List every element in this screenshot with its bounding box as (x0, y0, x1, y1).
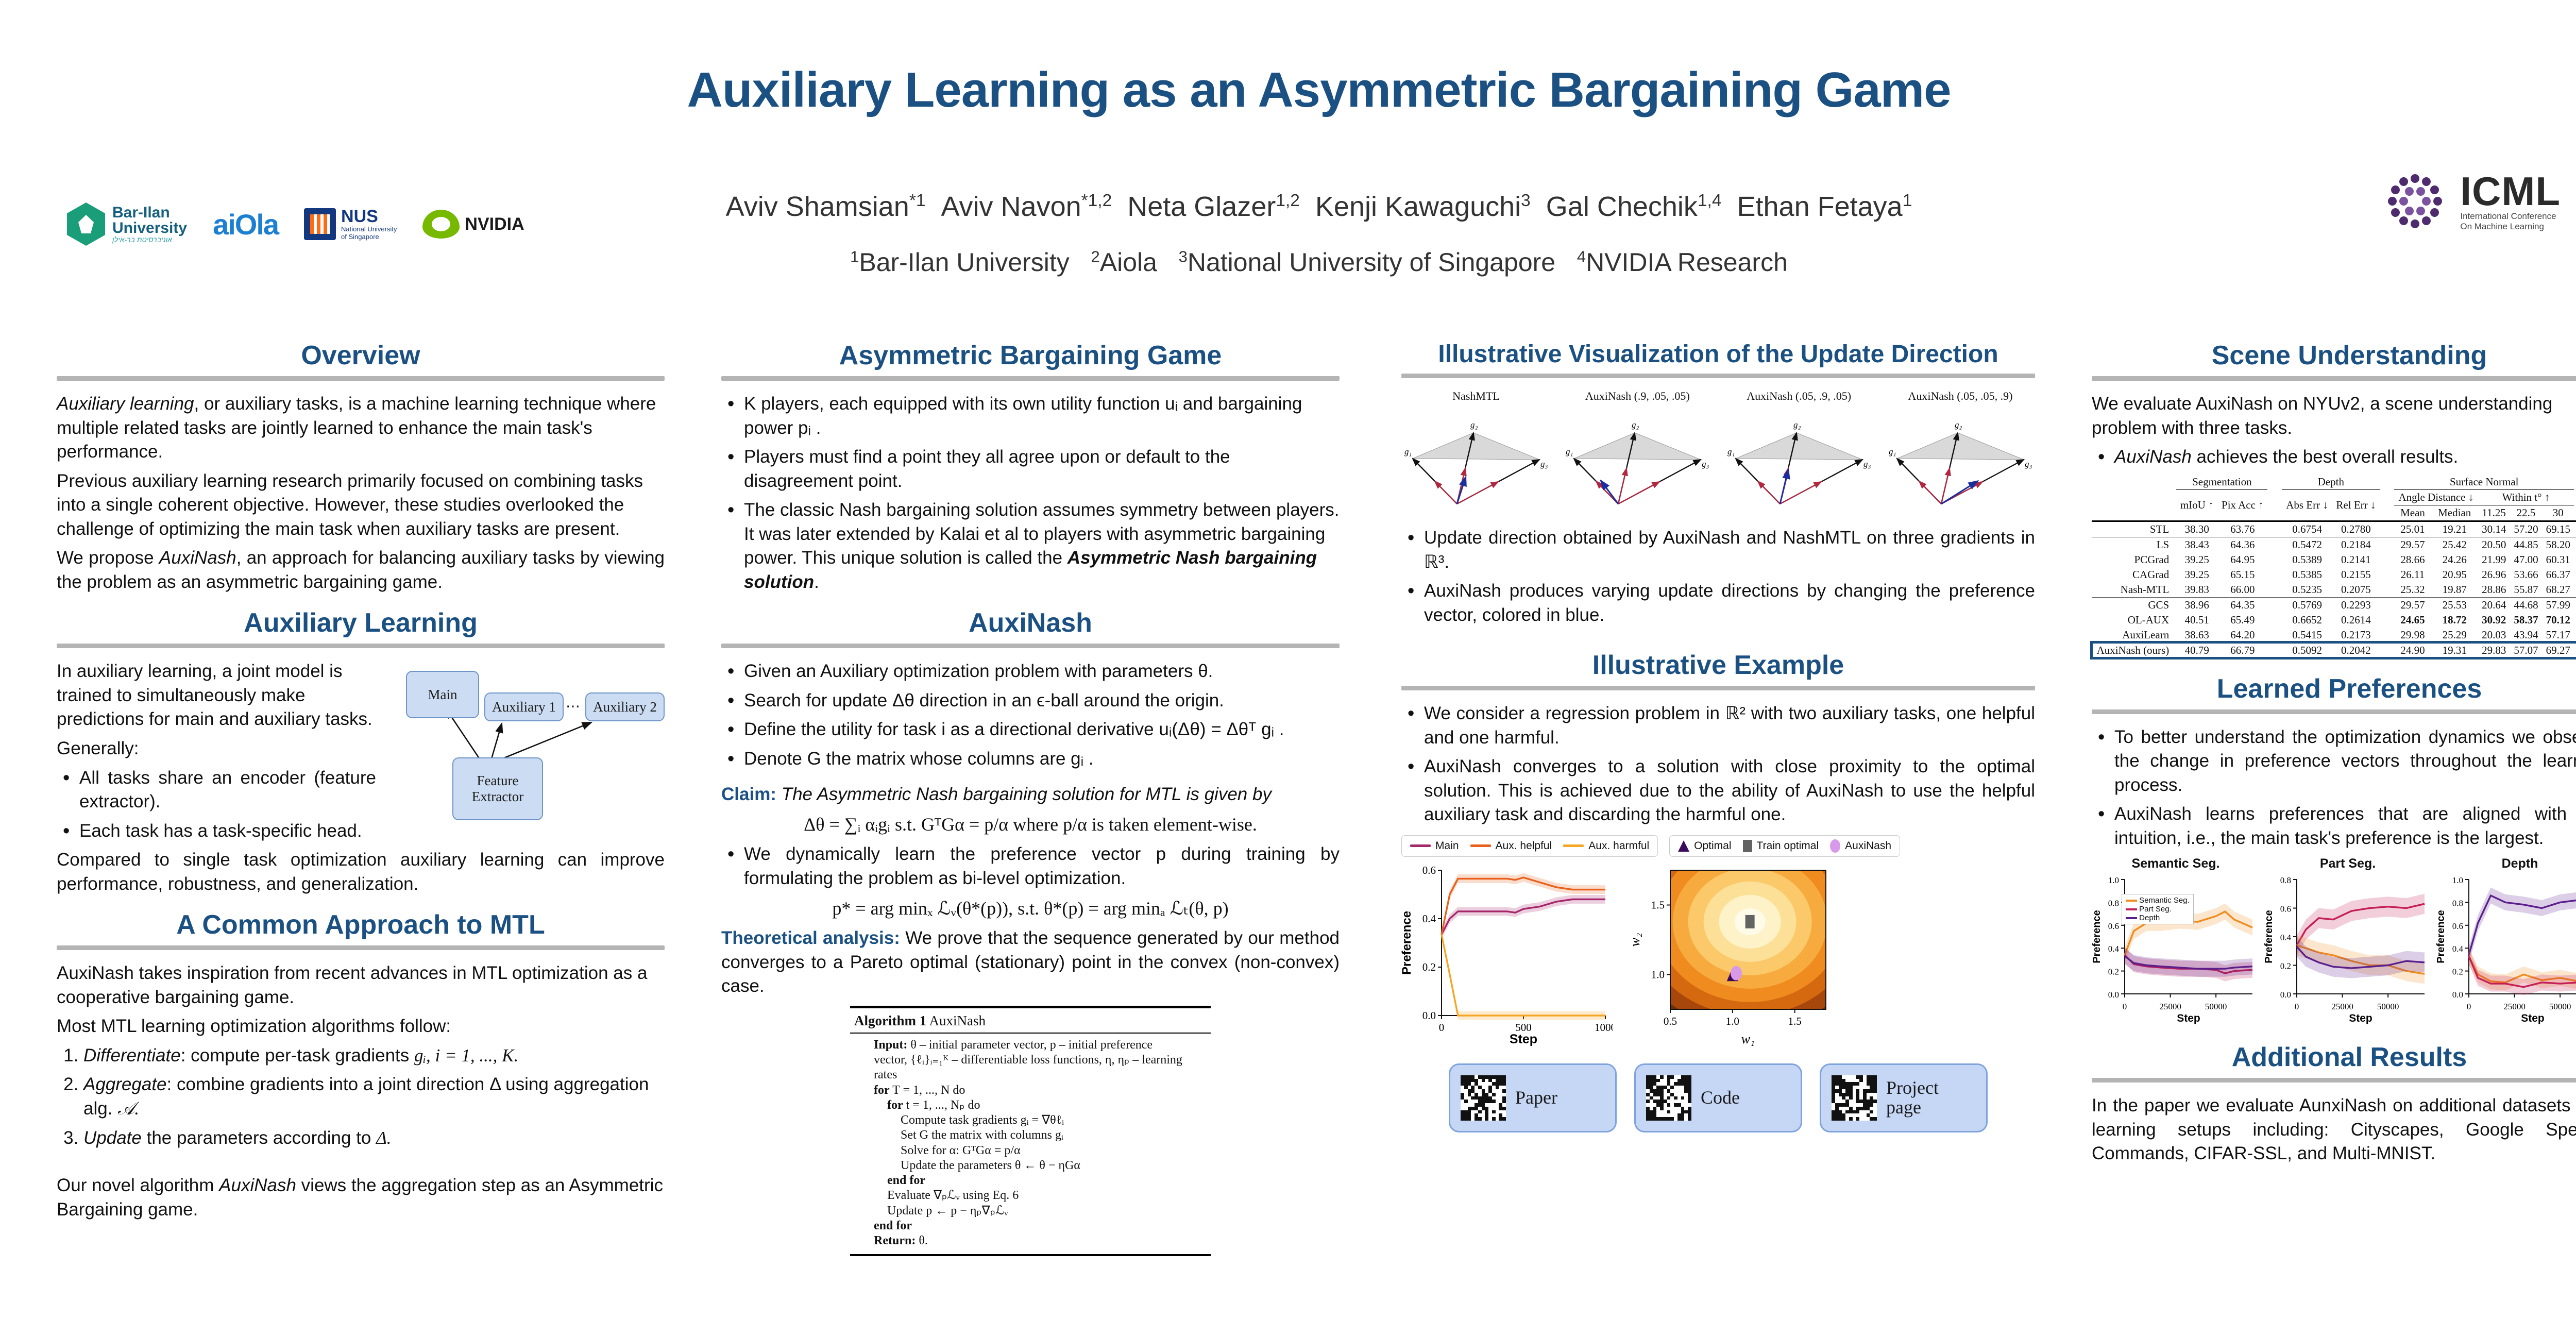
divider (2092, 1078, 2576, 1083)
table-cell: 0.2614 (2332, 613, 2380, 628)
svg-text:g₃: g₃ (1702, 459, 1709, 469)
algorithm-line: Update p ← p − ηₚ∇ₚℒᵥ (874, 1204, 1206, 1219)
table-cell: 0.2293 (2332, 597, 2380, 613)
list-item: Each task has a task-specific head. (79, 819, 376, 843)
scene-method-name: AuxiNash (2114, 447, 2192, 467)
table-cell: 64.35 (2217, 597, 2267, 613)
table-cell: 29.57 (2394, 537, 2431, 552)
svg-text:0.4: 0.4 (1422, 912, 1436, 925)
svg-text:1.0: 1.0 (1726, 1015, 1739, 1027)
group-header: Depth (2282, 475, 2380, 490)
list-item: To better understand the optimization dy… (2114, 725, 2576, 798)
table-cell: 57.20 (2510, 521, 2542, 537)
table-cell: 25.32 (2394, 582, 2431, 598)
table-cell: 38.30 (2176, 521, 2217, 537)
algorithm-line: Evaluate ∇ₚℒᵥ using Eq. 6 (874, 1188, 1206, 1203)
table-cell: 5.66 (2574, 552, 2576, 567)
scene-heading: Scene Understanding (2092, 340, 2576, 371)
page-title: Auxiliary Learning as an Asymmetric Barg… (0, 62, 2576, 119)
table-cell: 29.98 (2394, 628, 2431, 643)
table-cell: 64.95 (2217, 552, 2267, 567)
svg-text:g₂: g₂ (1793, 420, 1801, 430)
overview-p3-method: AuxiNash (159, 548, 236, 568)
table-cell: 55.87 (2510, 582, 2542, 598)
svg-text:Step: Step (2177, 1012, 2200, 1024)
table-cell: 0.6652 (2282, 613, 2332, 628)
table-cell: 38.43 (2176, 537, 2217, 552)
table-cell: 0.5389 (2282, 552, 2332, 567)
svg-text:w₂: w₂ (1628, 933, 1642, 946)
svg-text:0.0: 0.0 (2280, 990, 2291, 1000)
author: Gal Chechik1,4 (1546, 191, 1722, 222)
table-cell: 0.2173 (2332, 628, 2380, 643)
column-header: Median (2431, 505, 2478, 521)
table-cell: 28.66 (2394, 552, 2431, 567)
code-link-button[interactable]: Code (1634, 1063, 1802, 1132)
results-table: SegmentationDepthSurface NormalmIoU ↑Pix… (2092, 475, 2576, 658)
overview-paragraph-1: Auxiliary learning, or auxiliary tasks, … (57, 392, 665, 464)
additional-paragraph: In the paper we evaluate AunxiNash on ad… (2092, 1094, 2576, 1166)
step-1-text: : compute per-task gradients (181, 1045, 414, 1066)
divider (57, 945, 665, 950)
table-cell: 43.94 (2510, 628, 2542, 643)
list-item: Players must find a point they all agree… (744, 445, 1340, 493)
column-2: Asymmetric Bargaining Game K players, ea… (721, 340, 1340, 1270)
svg-text:Preference: Preference (2264, 910, 2275, 963)
overview-p3-a: We propose (57, 548, 159, 568)
table-cell: 58.20 (2542, 537, 2574, 552)
node-fe-line2: Extractor (472, 789, 523, 805)
svg-text:0: 0 (2467, 1002, 2471, 1011)
illus-example-heading: Illustrative Example (1401, 650, 2035, 681)
list-item: Aggregate: combine gradients into a join… (83, 1073, 665, 1121)
table-cell: −4.76 (2574, 582, 2576, 598)
table-cell: 8.69 (2574, 537, 2576, 552)
algorithm-line: Input: θ – initial parameter vector, p –… (874, 1038, 1206, 1053)
preference-chart-3: Depth 0.0 0.2 0.4 0.6 0.8 1.0 0 25000 50… (2436, 856, 2576, 1028)
paper-link-label: Paper (1515, 1088, 1557, 1108)
svg-text:1.5: 1.5 (1788, 1015, 1801, 1027)
column-header: Pix Acc ↑ (2217, 489, 2267, 521)
author-list: Aviv Shamsian*1 Aviv Navon*1,2 Neta Glaz… (0, 191, 2576, 223)
legend-marker (1743, 840, 1752, 852)
step-2-term: Aggregate (83, 1074, 167, 1094)
table-cell: 25.53 (2431, 597, 2478, 613)
table-cell: 0.5092 (2282, 642, 2332, 658)
scene-bullet-text: achieves the best overall results. (2192, 447, 2458, 467)
bargaining-bullet-list: K players, each equipped with its own ut… (721, 392, 1340, 594)
table-cell: −6.80 (2574, 642, 2576, 658)
table-subgroup-header-row: mIoU ↑Pix Acc ↑Abs Err ↓Rel Err ↓Angle D… (2092, 489, 2576, 505)
legend-entry: Part Seg. (2126, 905, 2190, 914)
algorithm-line: for T = 1, ..., N do (874, 1083, 1206, 1098)
table-cell: 65.49 (2217, 613, 2267, 628)
overview-paragraph-3: We propose AuxiNash, an approach for bal… (57, 546, 665, 594)
algorithm-line: for t = 1, ..., Nₚ do (874, 1098, 1206, 1113)
svg-text:25000: 25000 (2331, 1002, 2353, 1011)
tetra-figure: g₁ g₂ g₃ (1724, 403, 1874, 514)
table-cell: 69.27 (2542, 642, 2574, 658)
legend-entry: Aux. helpful (1470, 840, 1552, 852)
divider (1401, 374, 2035, 378)
divider (1401, 686, 2035, 690)
table-cell: 25.29 (2431, 628, 2478, 643)
affiliation: 1Bar-Ilan University (850, 248, 1070, 277)
legend-swatch (2126, 900, 2137, 902)
list-item: Define the utility for task i as a direc… (744, 718, 1340, 742)
svg-text:50000: 50000 (2205, 1002, 2227, 1011)
svg-text:g₁: g₁ (1889, 447, 1896, 456)
table-cell: 65.15 (2217, 567, 2267, 582)
node-feature-extractor: Feature Extractor (452, 757, 543, 820)
list-item: AuxiNash produces varying update directi… (1424, 579, 2035, 627)
table-cell: 44.68 (2510, 597, 2542, 613)
algorithm-title: Algorithm 1 AuxiNash (850, 1012, 1211, 1034)
algorithm-line: Compute task gradients gᵢ = ∇θℓᵢ (874, 1113, 1206, 1128)
table-cell: 60.31 (2542, 552, 2574, 567)
table-cell: 63.76 (2217, 521, 2267, 537)
auxiliary-learning-heading: Auxiliary Learning (57, 607, 665, 638)
table-cell: 30.14 (2478, 521, 2510, 537)
al-paragraph-1: In auxiliary learning, a joint model is … (57, 659, 376, 732)
legend-label: Train optimal (1757, 840, 1819, 852)
svg-text:0.4: 0.4 (2108, 944, 2120, 954)
legend-label: Optimal (1694, 840, 1731, 852)
table-cell: 0.5472 (2282, 537, 2332, 552)
column-header: Abs Err ↓ (2282, 489, 2332, 521)
table-cell: 57.17 (2542, 628, 2574, 643)
illus-vis-heading: Illustrative Visualization of the Update… (1401, 340, 2035, 368)
section-illustrative-visualization: Illustrative Visualization of the Update… (1401, 340, 2035, 627)
svg-text:g₂: g₂ (1632, 420, 1639, 430)
svg-text:50000: 50000 (2549, 1002, 2571, 1011)
table-row: Nash-MTL39.8366.000.52350.207525.3219.87… (2092, 582, 2576, 598)
column-1: Overview Auxiliary learning, or auxiliar… (57, 340, 665, 1235)
node-aux1-label: Auxiliary 1 (492, 699, 556, 715)
table-row: AuxiNash (ours)40.7966.790.50920.204224.… (2092, 642, 2576, 658)
svg-text:0.4: 0.4 (2280, 933, 2292, 942)
table-cell: 39.83 (2176, 582, 2217, 598)
claim-equation: Δθ = ∑ᵢ αᵢgᵢ s.t. GᵀGα = p/α where p/α i… (721, 814, 1340, 835)
chart-title: Part Seg. (2264, 856, 2432, 871)
row-label: LS (2092, 537, 2176, 552)
common-mtl-heading: A Common Approach to MTL (57, 909, 665, 940)
tetrahedron-panels: NashMTL g₁ g₂ g₃ AuxiNash (.9, .05, .05) (1401, 390, 2035, 517)
group-header: Segmentation (2176, 475, 2267, 490)
author: Kenji Kawaguchi3 (1315, 191, 1531, 222)
table-cell: 47.00 (2510, 552, 2542, 567)
section-auxiliary-learning: Auxiliary Learning In auxiliary learning… (57, 607, 665, 896)
step-1-term: Differentiate (83, 1045, 181, 1066)
results-table-wrap: SegmentationDepthSurface NormalmIoU ↑Pix… (2092, 475, 2576, 658)
tetra-panel-1: AuxiNash (.9, .05, .05) g₁ g₂ g₃ (1563, 390, 1712, 517)
list-item: We consider a regression problem in ℝ² w… (1424, 702, 2035, 750)
list-item: Update the parameters according to Δ. (83, 1126, 665, 1151)
auxinash-heading: AuxiNash (721, 607, 1340, 638)
claim-label: Claim: (721, 784, 776, 804)
table-row: AuxiLearn38.6364.200.54150.217329.9825.2… (2092, 628, 2576, 643)
overview-paragraph-2: Previous auxiliary learning research pri… (57, 469, 665, 542)
table-cell: 69.15 (2542, 521, 2574, 537)
svg-text:Step: Step (1510, 1032, 1537, 1046)
svg-text:0.6: 0.6 (1422, 864, 1436, 876)
mtl-paragraph-3: Our novel algorithm AuxiNash views the a… (57, 1174, 665, 1222)
table-cell: 64.20 (2217, 628, 2267, 643)
preference-step-chart: 0.0 0.2 0.4 0.6 0 500 1000StepPreference (1401, 862, 1613, 1050)
list-item: Denote G the matrix whose columns are gᵢ… (744, 747, 1340, 771)
list-item: AuxiNash converges to a solution with cl… (1424, 755, 2035, 827)
node-auxiliary-1: Auxiliary 1 (484, 692, 564, 721)
table-row: PCGrad39.2564.950.53890.214128.6624.2621… (2092, 552, 2576, 567)
list-item: All tasks share an encoder (feature extr… (79, 766, 376, 814)
table-cell: 0.5415 (2282, 628, 2332, 643)
svg-text:1.0: 1.0 (2452, 875, 2463, 885)
project-label-line1: Project (1886, 1077, 1939, 1098)
svg-text:g₂: g₂ (1470, 420, 1478, 430)
mtl-paragraph-1: AuxiNash takes inspiration from recent a… (57, 961, 665, 1009)
author: Ethan Fetaya1 (1737, 191, 1912, 222)
algorithm-body: Input: θ – initial parameter vector, p –… (850, 1038, 1211, 1249)
svg-text:Preference: Preference (2092, 910, 2103, 963)
table-cell: 9.15 (2574, 628, 2576, 643)
nus-line1: National University (341, 225, 397, 233)
section-auxinash: AuxiNash Given an Auxiliary optimization… (721, 607, 1340, 1256)
legend-marker (1678, 840, 1689, 852)
auxinash-dynamic-list: We dynamically learn the preference vect… (721, 842, 1340, 890)
overview-lead-term: Auxiliary learning (57, 394, 194, 414)
list-item: Given an Auxiliary optimization problem … (744, 659, 1340, 684)
table-cell: 20.50 (2478, 537, 2510, 552)
legend-label: Semantic Seg. (2139, 896, 2190, 905)
qr-code-icon (1461, 1075, 1506, 1121)
legend-entry: Depth (2126, 914, 2190, 922)
table-cell: 19.87 (2431, 582, 2478, 598)
chart-svg: 0.0 0.2 0.4 0.6 0.8 1.0 0 25000 50000Ste… (2436, 871, 2576, 1026)
learned-pref-heading: Learned Preferences (2092, 673, 2576, 704)
step-1-math: gᵢ, i = 1, ..., K. (414, 1045, 518, 1066)
author: Aviv Navon*1,2 (941, 191, 1112, 222)
row-label: AuxiNash (ours) (2092, 642, 2176, 658)
table-cell: 0.5235 (2282, 582, 2332, 598)
algorithm-line: Solve for α: GᵀGα = p/α (874, 1143, 1206, 1158)
tetra-panel-3: AuxiNash (.05, .05, .9) g₁ g₂ g₃ (1886, 390, 2035, 517)
affiliation: 3National University of Singapore (1179, 248, 1556, 277)
marker-train-optimal (1745, 915, 1755, 928)
author: Aviv Shamsian*1 (726, 191, 926, 222)
row-label: CAGrad (2092, 567, 2176, 582)
list-item: The classic Nash bargaining solution ass… (744, 498, 1340, 594)
table-cell: 18.72 (2431, 613, 2478, 628)
icml-line2: On Machine Learning (2460, 222, 2561, 232)
table-cell: 70.12 (2542, 613, 2574, 628)
table-cell: 53.66 (2510, 567, 2542, 582)
list-item: Search for update Δθ direction in an ϵ-b… (744, 689, 1340, 713)
list-item: We dynamically learn the preference vect… (744, 842, 1340, 890)
column-3: Illustrative Visualization of the Update… (1401, 340, 2035, 1132)
affiliation: 2Aiola (1091, 248, 1157, 277)
bargaining-b3-post: . (814, 572, 819, 592)
svg-text:Preference: Preference (1401, 911, 1414, 975)
mtl-p3-method: AuxiNash (219, 1175, 296, 1195)
loss-landscape-contour-chart: 1.0 1.5 0.5 1.0 1.5w₁w₂ (1626, 862, 1832, 1050)
divider (721, 644, 1340, 648)
al-bullet-list: All tasks share an encoder (feature extr… (57, 766, 376, 843)
algorithm-line: end for (874, 1219, 1206, 1233)
svg-text:0.6: 0.6 (2280, 904, 2291, 914)
svg-text:0.6: 0.6 (2452, 921, 2463, 931)
table-cell: 57.07 (2510, 642, 2542, 658)
algorithm-box: Algorithm 1 AuxiNash Input: θ – initial … (850, 1006, 1211, 1256)
column-header: Δ% ↓ (2574, 489, 2576, 521)
table-cell: 66.79 (2217, 642, 2267, 658)
chart-title: Semantic Seg. (2092, 856, 2260, 871)
svg-text:Step: Step (2521, 1012, 2545, 1024)
table-cell: 40.51 (2176, 613, 2217, 628)
preference-chart-2: Part Seg. 0.0 0.2 0.4 0.6 0.8 0 25000 50… (2264, 856, 2432, 1028)
svg-text:g₁: g₁ (1727, 447, 1735, 456)
algorithm-number: Algorithm 1 (854, 1013, 926, 1028)
table-cell: 0.2780 (2332, 521, 2380, 537)
svg-text:w₁: w₁ (1741, 1031, 1755, 1046)
svg-text:g₃: g₃ (2025, 459, 2032, 469)
table-row: LS38.4364.360.54720.218429.5725.4220.504… (2092, 537, 2576, 552)
legend-label: Aux. helpful (1496, 840, 1552, 852)
row-label: GCS (2092, 597, 2176, 613)
step-2-math: 𝒜. (117, 1098, 139, 1119)
algorithm-line: vector, {ℓᵢ}ᵢ₌₁ᴷ – differentiable loss f… (874, 1053, 1206, 1068)
svg-text:0.8: 0.8 (2452, 899, 2463, 908)
auxinash-bullet-list: Given an Auxiliary optimization problem … (721, 659, 1340, 771)
node-fe-line1: Feature (477, 773, 519, 789)
learned-pref-bullet-list: To better understand the optimization dy… (2092, 725, 2576, 851)
table-cell: 58.37 (2510, 613, 2542, 628)
preference-chart-1: Semantic Seg. Semantic Seg. Part Seg. De… (2092, 856, 2260, 1028)
legend-entry: Semantic Seg. (2126, 896, 2190, 905)
table-cell: 0.2141 (2332, 552, 2380, 567)
list-item: K players, each equipped with its own ut… (744, 392, 1340, 440)
legend-label: Part Seg. (2139, 905, 2172, 914)
svg-text:0.8: 0.8 (2108, 899, 2119, 908)
table-cell: 25.42 (2431, 537, 2478, 552)
subgroup-header: Angle Distance ↓ (2394, 489, 2478, 505)
table-cell: 68.27 (2542, 582, 2574, 598)
tetra-caption: AuxiNash (.05, .05, .9) (1886, 390, 2035, 403)
node-auxiliary-2: Auxiliary 2 (585, 692, 665, 721)
list-item: Differentiate: compute per-task gradient… (83, 1044, 665, 1068)
project-page-link-button[interactable]: Project page (1820, 1063, 1988, 1132)
bilevel-equation: p* = arg minₓ ℒᵥ(θ*(p)), s.t. θ*(p) = ar… (721, 898, 1340, 919)
table-cell: 26.11 (2394, 567, 2431, 582)
svg-text:0.2: 0.2 (2280, 961, 2291, 971)
table-cell: 24.26 (2431, 552, 2478, 567)
author: Neta Glazer1,2 (1127, 191, 1300, 222)
table-cell: 24.90 (2394, 642, 2431, 658)
table-cell: 9.54 (2574, 597, 2576, 613)
overview-heading: Overview (57, 340, 665, 371)
svg-text:1.0: 1.0 (1651, 968, 1665, 980)
tetra-caption: AuxiNash (.05, .9, .05) (1724, 390, 1874, 403)
table-cell: 0.5385 (2282, 567, 2332, 582)
algorithm-line: rates (874, 1068, 1206, 1083)
column-header: Mean (2394, 505, 2431, 521)
row-label: STL (2092, 521, 2176, 537)
table-group-header-row: SegmentationDepthSurface Normal (2092, 475, 2576, 490)
marker-auxinash (1731, 966, 1742, 980)
paper-link-button[interactable]: Paper (1449, 1063, 1617, 1132)
tetra-caption: NashMTL (1401, 390, 1551, 403)
table-cell: 20.03 (2478, 628, 2510, 643)
tetra-figure: g₁ g₂ g₃ (1563, 403, 1712, 514)
divider (57, 376, 665, 381)
scene-bullet-list: AuxiNash achieves the best overall resul… (2092, 445, 2576, 469)
chart-svg: 0.0 0.2 0.4 0.6 0 500 1000StepPreference (1401, 862, 1613, 1047)
svg-text:0.0: 0.0 (1422, 1009, 1436, 1022)
table-cell: 26.96 (2478, 567, 2510, 582)
table-cell: 0.2042 (2332, 642, 2380, 658)
table-cell: 20.95 (2431, 567, 2478, 582)
algorithm-line: Set G the matrix with columns gᵢ (874, 1128, 1206, 1143)
al-paragraph-3: Compared to single task optimization aux… (57, 848, 665, 896)
divider (721, 376, 1340, 381)
svg-text:0.0: 0.0 (2108, 990, 2119, 1000)
table-cell: 19.31 (2431, 642, 2478, 658)
column-4: Scene Understanding We evaluate AuxiNash… (2092, 340, 2576, 1179)
algorithm-line: Update the parameters θ ← θ − ηGα (874, 1158, 1206, 1173)
row-label: PCGrad (2092, 552, 2176, 567)
tetra-figure: g₁ g₂ g₃ (1401, 403, 1551, 514)
affiliation: 4NVIDIA Research (1577, 248, 1788, 277)
table-cell: 44.85 (2510, 537, 2542, 552)
svg-text:g₃: g₃ (1540, 459, 1548, 469)
section-illustrative-example: Illustrative Example We consider a regre… (1401, 650, 2035, 1050)
tetra-panel-0: NashMTL g₁ g₂ g₃ (1401, 390, 1551, 517)
auxiliary-learning-diagram: Main Auxiliary 1 ⋯ Auxiliary 2 Feature E… (385, 659, 664, 830)
table-row: GCS38.9664.350.57690.229329.5725.5320.64… (2092, 597, 2576, 613)
al-paragraph-2: Generally: (57, 737, 376, 761)
additional-heading: Additional Results (2092, 1042, 2576, 1073)
group-header: Surface Normal (2394, 475, 2574, 490)
svg-text:0.8: 0.8 (2280, 875, 2291, 885)
legend-swatch (2126, 917, 2137, 919)
mtl-step-list: Differentiate: compute per-task gradient… (57, 1044, 665, 1150)
preference-chart-legend: MainAux. helpfulAux. harmful (1401, 835, 1658, 857)
table-cell (2574, 521, 2576, 537)
chart-legend: Semantic Seg. Part Seg. Depth (2122, 894, 2194, 924)
scene-paragraph-1: We evaluate AuxiNash on NYUv2, a scene u… (2092, 392, 2576, 440)
svg-text:Step: Step (2349, 1012, 2372, 1024)
table-cell: −2.88 (2574, 613, 2576, 628)
theoretical-analysis: Theoretical analysis: We prove that the … (721, 926, 1340, 999)
table-cell: 0.5769 (2282, 597, 2332, 613)
table-cell: 21.99 (2478, 552, 2510, 567)
divider (2092, 376, 2576, 381)
svg-text:0.5: 0.5 (1664, 1015, 1677, 1027)
algorithm-line: Return: θ. (874, 1233, 1206, 1248)
table-cell: 66.00 (2217, 582, 2267, 598)
nus-line2: of Singapore (341, 233, 397, 241)
diagram-ellipsis: ⋯ (566, 698, 580, 715)
svg-text:25000: 25000 (2503, 1002, 2526, 1011)
svg-text:g₁: g₁ (1566, 447, 1573, 456)
legend-swatch (1470, 844, 1491, 847)
divider (2092, 709, 2576, 714)
step-2-text: : combine gradients into a joint directi… (83, 1074, 649, 1119)
svg-text:g₃: g₃ (1863, 459, 1871, 469)
table-cell: 29.83 (2478, 642, 2510, 658)
table-cell: 0.2075 (2332, 582, 2380, 598)
row-label: Nash-MTL (2092, 582, 2176, 598)
legend-label: Main (1435, 840, 1459, 852)
